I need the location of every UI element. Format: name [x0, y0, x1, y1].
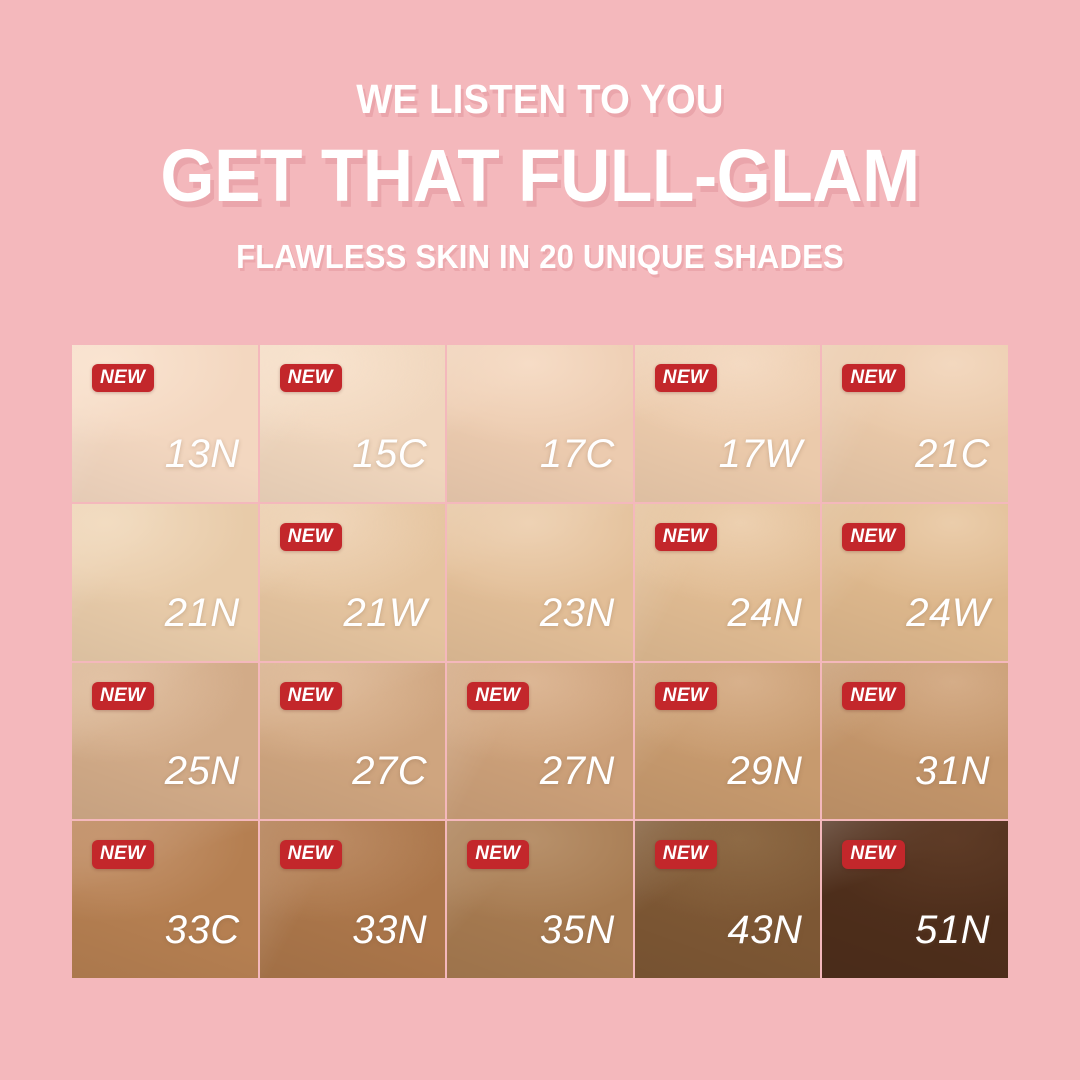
swatch-sheen [447, 345, 633, 502]
shade-code-label: 27C [352, 751, 427, 791]
shade-code-label: 29N [728, 751, 803, 791]
shade-code-label: 33C [165, 910, 240, 950]
shade-swatch[interactable]: NEW27C [260, 663, 446, 820]
shade-swatch[interactable]: NEW13N [72, 345, 258, 502]
shade-swatch[interactable]: NEW24N [635, 504, 821, 661]
shade-code-label: 24N [728, 593, 803, 633]
shade-code-label: 27N [540, 751, 615, 791]
shade-swatch[interactable]: NEW24W [822, 504, 1008, 661]
shade-code-label: 13N [165, 434, 240, 474]
shade-swatch[interactable]: NEW29N [635, 663, 821, 820]
shade-grid: NEW13NNEW15CNEW17CNEW17WNEW21CNEW21NNEW2… [72, 345, 1008, 978]
header-kicker: WE LISTEN TO YOU [38, 78, 1042, 121]
shade-swatch[interactable]: NEW17C [447, 345, 633, 502]
shade-code-label: 21N [165, 593, 240, 633]
shade-code-label: 21W [343, 593, 427, 633]
new-badge: NEW [655, 364, 717, 392]
shade-swatch[interactable]: NEW51N [822, 821, 1008, 978]
new-badge: NEW [655, 840, 717, 868]
shade-code-label: 43N [728, 910, 803, 950]
shade-swatch[interactable]: NEW15C [260, 345, 446, 502]
shade-code-label: 35N [540, 910, 615, 950]
new-badge: NEW [842, 682, 904, 710]
shade-swatch[interactable]: NEW27N [447, 663, 633, 820]
shade-swatch[interactable]: NEW35N [447, 821, 633, 978]
shade-swatch[interactable]: NEW33N [260, 821, 446, 978]
shade-code-label: 17W [719, 434, 803, 474]
shade-swatch[interactable]: NEW21N [72, 504, 258, 661]
shade-code-label: 23N [540, 593, 615, 633]
shade-code-label: 33N [352, 910, 427, 950]
shade-code-label: 51N [915, 910, 990, 950]
shade-code-label: 21C [915, 434, 990, 474]
new-badge: NEW [280, 840, 342, 868]
new-badge: NEW [842, 840, 904, 868]
new-badge: NEW [280, 523, 342, 551]
new-badge: NEW [655, 523, 717, 551]
shade-swatch[interactable]: NEW43N [635, 821, 821, 978]
shade-swatch[interactable]: NEW33C [72, 821, 258, 978]
header-subhead: FLAWLESS SKIN IN 20 UNIQUE SHADES [32, 239, 1047, 275]
shade-code-label: 25N [165, 751, 240, 791]
page-title: GET THAT FULL-GLAM [32, 135, 1047, 218]
new-badge: NEW [92, 840, 154, 868]
shade-swatch[interactable]: NEW21W [260, 504, 446, 661]
new-badge: NEW [467, 682, 529, 710]
swatch-sheen [447, 504, 633, 661]
new-badge: NEW [467, 840, 529, 868]
new-badge: NEW [92, 682, 154, 710]
new-badge: NEW [842, 364, 904, 392]
new-badge: NEW [842, 523, 904, 551]
shade-swatch[interactable]: NEW25N [72, 663, 258, 820]
swatch-sheen [72, 504, 258, 661]
shade-swatch[interactable]: NEW17W [635, 345, 821, 502]
shade-code-label: 15C [352, 434, 427, 474]
new-badge: NEW [655, 682, 717, 710]
shade-swatch[interactable]: NEW21C [822, 345, 1008, 502]
shade-code-label: 17C [540, 434, 615, 474]
shade-swatch[interactable]: NEW23N [447, 504, 633, 661]
new-badge: NEW [280, 364, 342, 392]
shade-code-label: 31N [915, 751, 990, 791]
new-badge: NEW [280, 682, 342, 710]
new-badge: NEW [92, 364, 154, 392]
shade-code-label: 24W [906, 593, 990, 633]
shade-swatch[interactable]: NEW31N [822, 663, 1008, 820]
promo-header: WE LISTEN TO YOU GET THAT FULL-GLAM FLAW… [0, 78, 1080, 275]
